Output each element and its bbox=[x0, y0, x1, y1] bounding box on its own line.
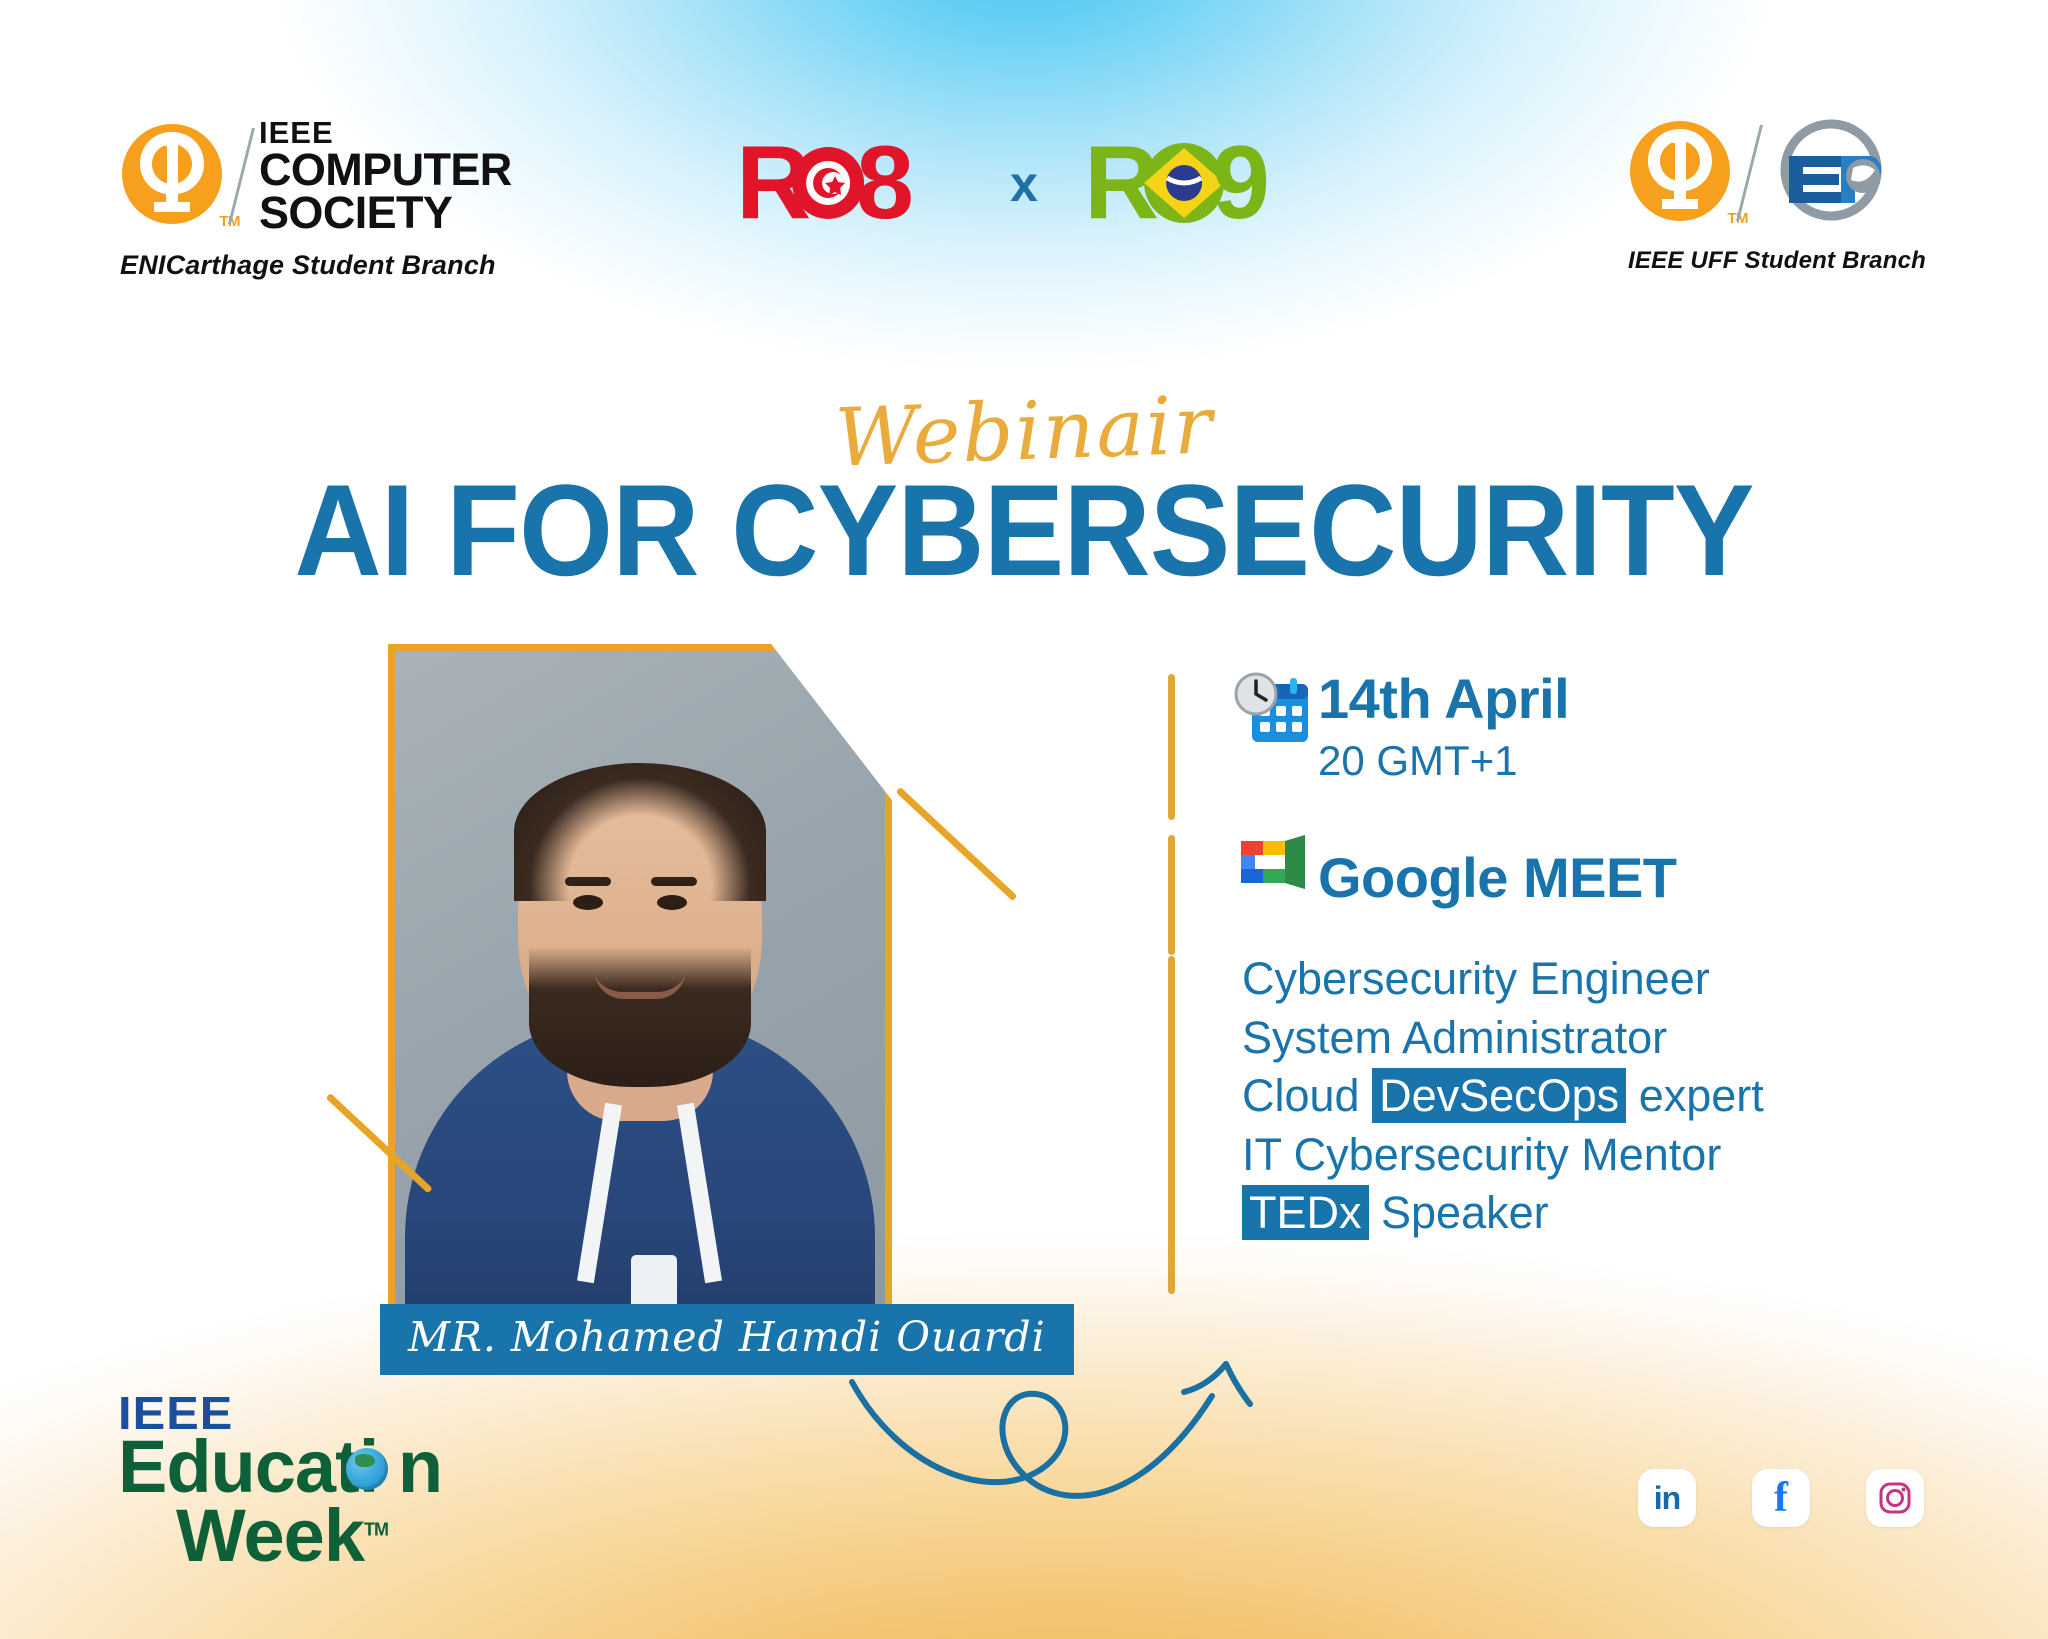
region-separator-x: x bbox=[1010, 155, 1038, 213]
curved-arrow-icon bbox=[840, 1320, 1280, 1555]
title-block: Webinair AI FOR CYBERSECURITY bbox=[0, 392, 2048, 600]
credential-line: Cybersecurity Engineer bbox=[1242, 950, 1764, 1009]
credential-line: TEDx Speaker bbox=[1242, 1184, 1764, 1243]
platform-label: Google MEET bbox=[1318, 827, 1677, 910]
header-left-logo-group: TM IEEE COMPUTER SOCIETY ENICarthage Stu… bbox=[120, 118, 512, 281]
logo-divider-slash-right bbox=[1736, 125, 1763, 221]
region9-logo-icon: R 9 bbox=[1084, 126, 1312, 241]
credential-text: Speaker bbox=[1369, 1187, 1549, 1238]
ieee-computer-society-logo-icon: TM bbox=[120, 124, 224, 228]
photo-beard bbox=[529, 947, 751, 1087]
header-right-logo-group: TM IEEE UFF Student Branch bbox=[1628, 118, 1926, 275]
date-time-block: 14th April 20 GMT+1 bbox=[1168, 666, 1928, 787]
social-icons-group: in f bbox=[1638, 1469, 1924, 1527]
photo-hair bbox=[514, 763, 766, 901]
edu-trademark: TM bbox=[364, 1519, 388, 1539]
credential-text: Cybersecurity Engineer bbox=[1242, 953, 1710, 1004]
event-time: 20 GMT+1 bbox=[1318, 735, 1569, 788]
svg-text:9: 9 bbox=[1212, 126, 1270, 236]
linkedin-icon[interactable]: in bbox=[1638, 1469, 1696, 1527]
platform-block: Google MEET bbox=[1168, 827, 1928, 910]
credential-text: IT Cybersecurity Mentor bbox=[1242, 1129, 1721, 1180]
date-time-text: 14th April 20 GMT+1 bbox=[1318, 666, 1569, 787]
divider-bar-date bbox=[1168, 674, 1175, 820]
edu-week-text: Week bbox=[176, 1494, 364, 1577]
event-info-column: 14th April 20 GMT+1 Google MEET Cybersec… bbox=[1168, 666, 1928, 1243]
speaker-photo-block bbox=[328, 636, 928, 1356]
logo-divider-slash bbox=[228, 128, 255, 224]
speaker-photo bbox=[388, 644, 892, 1324]
photo-brow-right bbox=[651, 877, 697, 886]
credential-highlight: DevSecOps bbox=[1372, 1068, 1626, 1123]
edu-education-label: Educati n bbox=[118, 1434, 442, 1501]
globe-icon bbox=[346, 1448, 388, 1490]
calendar-clock-icon bbox=[1226, 666, 1318, 750]
ieee-computer-society-wordmark: IEEE COMPUTER SOCIETY bbox=[259, 118, 512, 234]
region8-logo-icon: R 8 bbox=[736, 126, 964, 241]
linkedin-label: in bbox=[1654, 1480, 1680, 1517]
cs-line-society: SOCIETY bbox=[259, 191, 512, 234]
page-title: AI FOR CYBERSECURITY bbox=[72, 460, 1977, 600]
ieee-education-week-logo: IEEE Educati n WeekTM bbox=[118, 1392, 442, 1571]
ieee-computer-society-logo-icon-right: TM bbox=[1628, 121, 1732, 225]
credential-text: System Administrator bbox=[1242, 1012, 1667, 1063]
efs-logo-icon bbox=[1767, 118, 1895, 227]
edu-week-label: WeekTM bbox=[176, 1501, 442, 1571]
photo-eye-left bbox=[573, 895, 603, 910]
svg-text:8: 8 bbox=[856, 126, 914, 236]
credential-text: expert bbox=[1626, 1070, 1764, 1121]
event-date: 14th April bbox=[1318, 670, 1569, 729]
photo-brow-left bbox=[565, 877, 611, 886]
facebook-icon[interactable]: f bbox=[1752, 1469, 1810, 1527]
facebook-label: f bbox=[1774, 1477, 1788, 1519]
credentials-block: Cybersecurity EngineerSystem Administrat… bbox=[1168, 950, 1928, 1243]
uff-logo-row: TM bbox=[1628, 118, 1926, 227]
photo-eye-right bbox=[657, 895, 687, 910]
credential-line: System Administrator bbox=[1242, 1009, 1764, 1068]
instagram-icon[interactable] bbox=[1866, 1469, 1924, 1527]
ieee-cs-logo-row: TM IEEE COMPUTER SOCIETY bbox=[120, 118, 512, 234]
credential-line: IT Cybersecurity Mentor bbox=[1242, 1126, 1764, 1185]
credential-line: Cloud DevSecOps expert bbox=[1242, 1067, 1764, 1126]
uff-branch-label: IEEE UFF Student Branch bbox=[1628, 247, 1926, 275]
divider-bar-platform bbox=[1168, 835, 1175, 955]
google-meet-icon bbox=[1226, 827, 1318, 897]
credential-text: Cloud bbox=[1242, 1070, 1372, 1121]
region-logos-group: R 8 x R 9 bbox=[736, 126, 1312, 241]
cs-line-computer: COMPUTER bbox=[259, 148, 512, 191]
divider-bar-credentials bbox=[1168, 956, 1175, 1294]
credentials-list: Cybersecurity EngineerSystem Administrat… bbox=[1226, 950, 1764, 1243]
enicarthage-branch-label: ENICarthage Student Branch bbox=[120, 250, 512, 281]
credential-highlight: TEDx bbox=[1242, 1185, 1369, 1240]
